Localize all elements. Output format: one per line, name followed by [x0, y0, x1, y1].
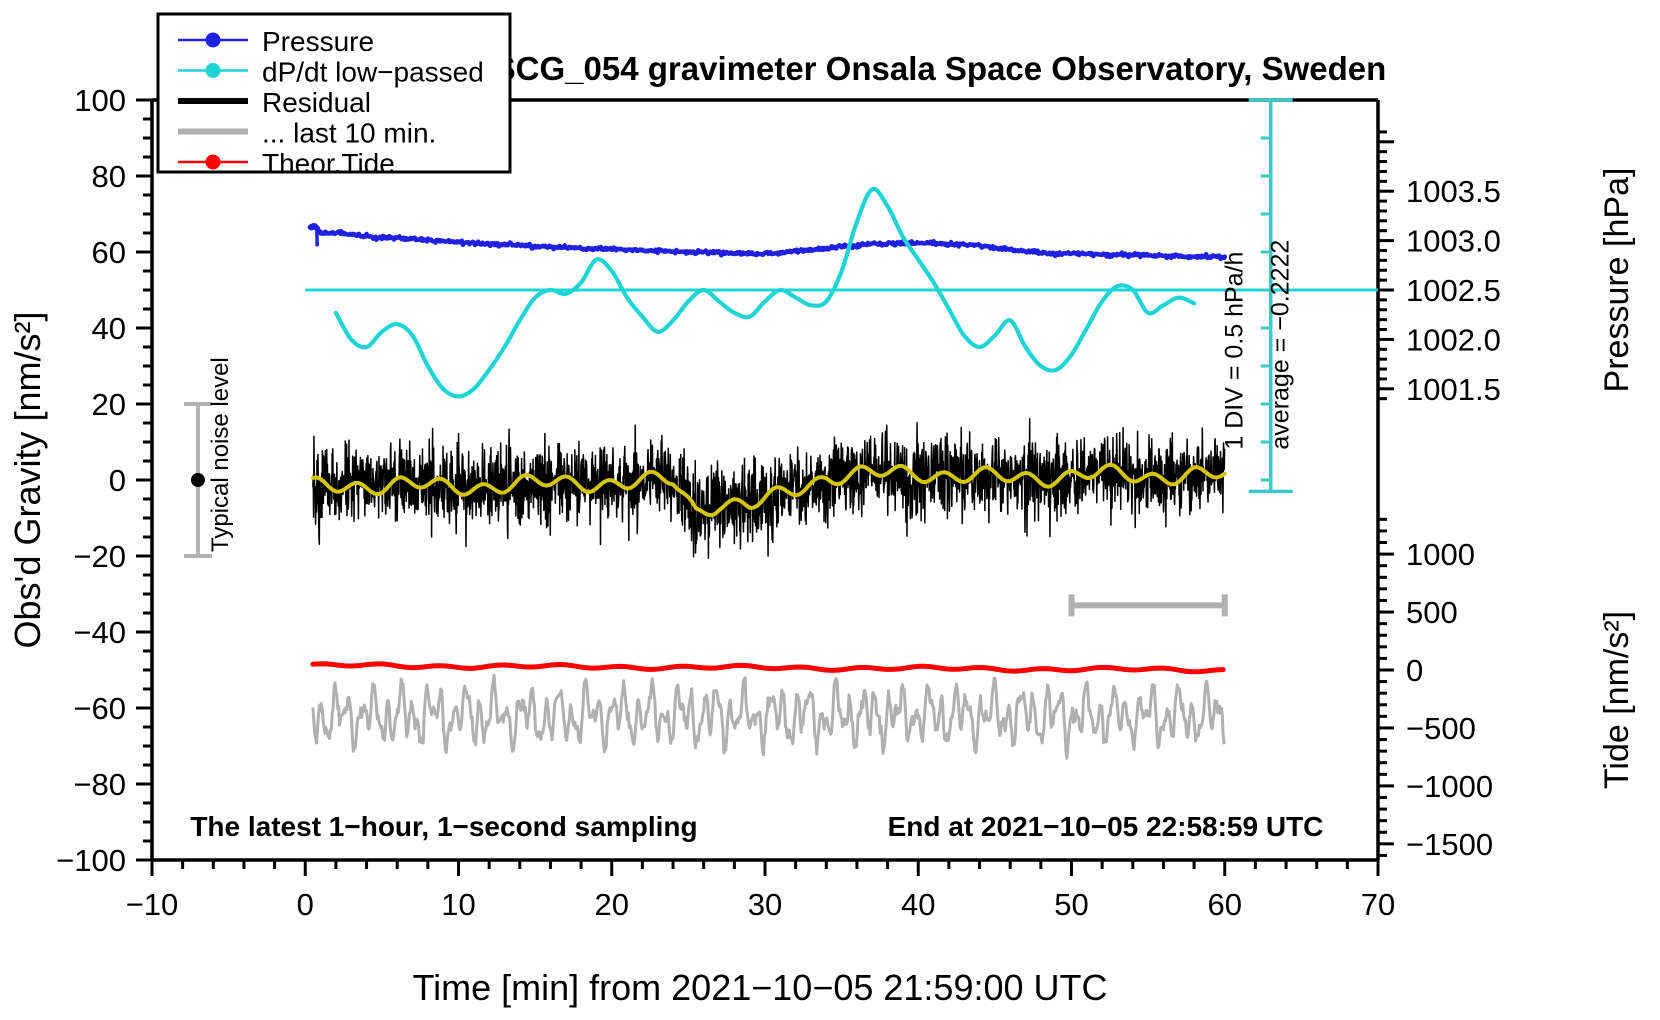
scale-average-label: average = −0.2222: [1267, 240, 1295, 450]
legend-label-2: Residual: [262, 87, 371, 118]
x-tick-label: 70: [1361, 887, 1395, 922]
bottom-axis-title: Time [min] from 2021−10−05 21:59:00 UTC: [412, 967, 1107, 1008]
x-tick-label: 40: [901, 887, 935, 922]
y-tick-label: 80: [92, 159, 126, 194]
legend-label-3: ... last 10 min.: [262, 118, 436, 149]
y-tick-label: −40: [73, 615, 126, 650]
x-tick-label: 0: [297, 887, 314, 922]
tide-tick-label: −1500: [1406, 827, 1493, 862]
plot-root: −10010203040506070100806040200−20−40−60−…: [0, 0, 1660, 1020]
y-tick-label: −60: [73, 691, 126, 726]
tide-tick-label: 0: [1406, 653, 1423, 688]
gravimeter-plot: −10010203040506070100806040200−20−40−60−…: [0, 0, 1660, 1020]
y-tick-label: −20: [73, 539, 126, 574]
y-tick-label: −80: [73, 767, 126, 802]
legend-label-4: Theor.Tide: [262, 148, 395, 179]
legend-label-0: Pressure: [262, 26, 374, 57]
x-tick-label: 60: [1208, 887, 1242, 922]
y-tick-label: 40: [92, 311, 126, 346]
footer-left-text: The latest 1−hour, 1−second sampling: [190, 811, 697, 842]
x-tick-label: 30: [748, 887, 782, 922]
left-axis-title: Obs'd Gravity [nm/s²]: [7, 312, 48, 649]
right-top-axis-title: Pressure [hPa]: [1598, 168, 1636, 393]
pressure-tick-label: 1002.5: [1406, 273, 1501, 308]
tide-tick-label: 500: [1406, 595, 1458, 630]
pressure-tick-label: 1001.5: [1406, 372, 1501, 407]
y-tick-label: 100: [74, 83, 126, 118]
y-tick-label: 60: [92, 235, 126, 270]
legend-marker-1: [206, 63, 221, 78]
tide-tick-label: −1000: [1406, 769, 1493, 804]
x-tick-label: 50: [1054, 887, 1088, 922]
noise-level-label: Typical noise level: [207, 357, 234, 552]
tide-tick-label: 1000: [1406, 537, 1475, 572]
legend-label-1: dP/dt low−passed: [262, 57, 484, 88]
scale-div-label: 1 DIV = 0.5 hPa/h: [1221, 252, 1249, 450]
legend-marker-4: [206, 155, 221, 170]
page-title: SCG_054 gravimeter Onsala Space Observat…: [494, 50, 1387, 87]
y-tick-label: 20: [92, 387, 126, 422]
y-tick-label: −100: [56, 843, 126, 878]
pressure-tick-label: 1003.0: [1406, 224, 1501, 259]
pressure-tick-label: 1003.5: [1406, 174, 1501, 209]
x-tick-label: −10: [126, 887, 179, 922]
footer-right-text: End at 2021−10−05 22:58:59 UTC: [888, 811, 1324, 842]
tide-tick-label: −500: [1406, 711, 1476, 746]
pressure-tick-label: 1002.0: [1406, 322, 1501, 357]
noise-bar-marker: [191, 473, 205, 487]
y-tick-label: 0: [109, 463, 126, 498]
right-bottom-axis-title: Tide [nm/s²]: [1598, 611, 1636, 789]
legend-marker-0: [206, 33, 221, 48]
x-tick-label: 20: [595, 887, 629, 922]
x-tick-label: 10: [441, 887, 475, 922]
